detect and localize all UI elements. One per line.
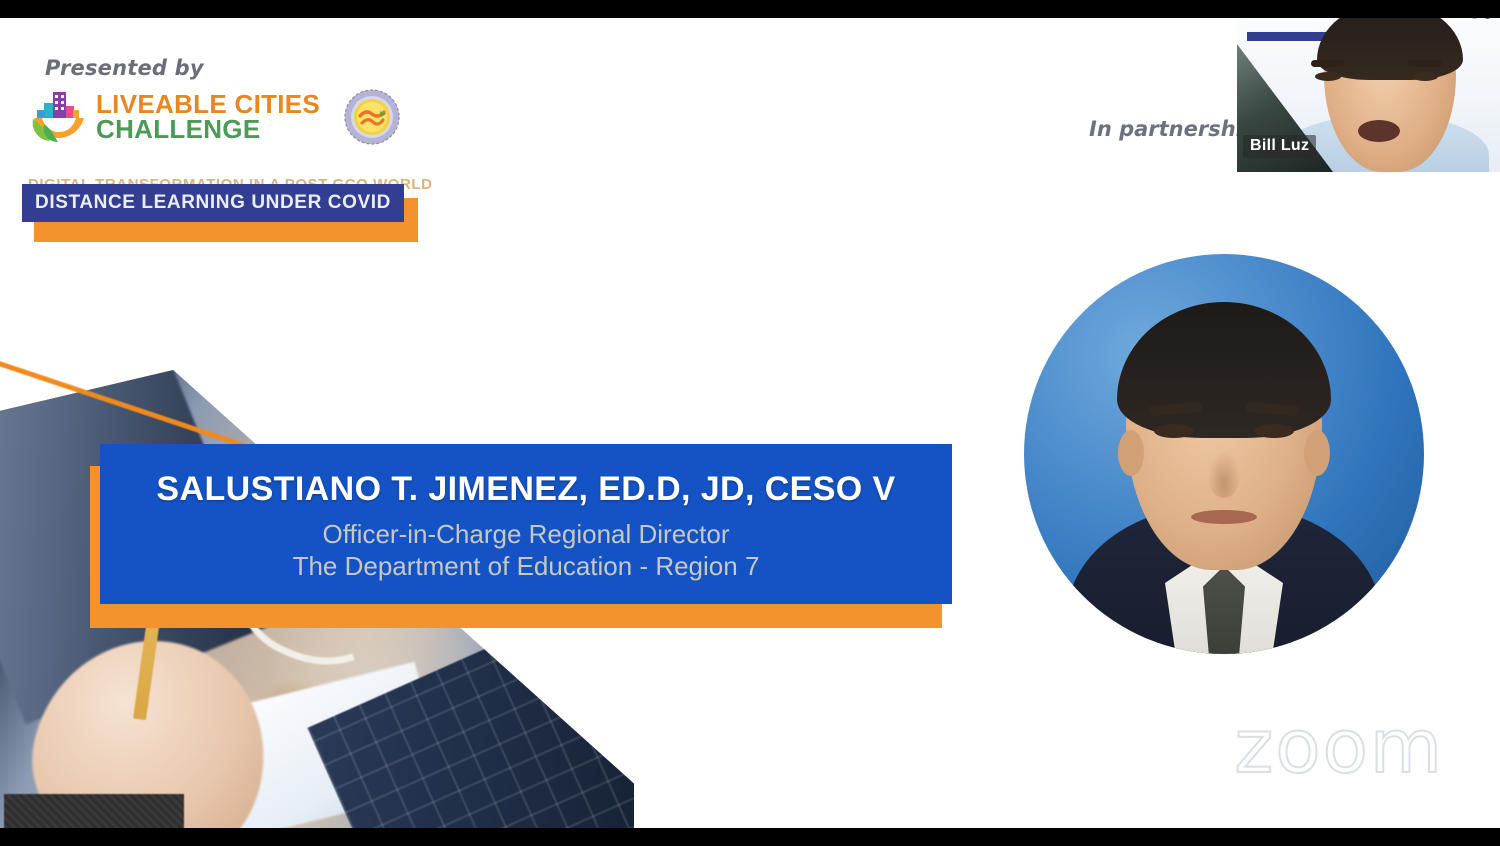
participant-name-label: Bill Luz bbox=[1243, 135, 1316, 158]
thumbnail-eye-left bbox=[1315, 72, 1341, 81]
speaker-role: Officer-in-Charge Regional Director bbox=[322, 519, 729, 550]
portrait-ear-left bbox=[1118, 430, 1144, 476]
participant-video-thumbnail[interactable]: Bill Luz bbox=[1237, 0, 1500, 172]
zoom-meeting-screen: Presented by bbox=[0, 0, 1500, 846]
speaker-nameplate: SALUSTIANO T. JIMENEZ, ED.D, JD, CESO V … bbox=[100, 444, 952, 604]
speaker-name: SALUSTIANO T. JIMENEZ, ED.D, JD, CESO V bbox=[156, 470, 895, 509]
portrait-nose bbox=[1207, 450, 1241, 498]
presented-by-label: Presented by bbox=[45, 56, 204, 80]
zoom-watermark: zoom bbox=[1235, 704, 1444, 790]
deped-region-7-seal-icon bbox=[344, 89, 400, 145]
thumbnail-brow-left bbox=[1311, 60, 1345, 67]
session-banner-main: DISTANCE LEARNING UNDER COVID bbox=[22, 184, 404, 222]
speaker-organization: The Department of Education - Region 7 bbox=[293, 551, 760, 582]
portrait-eye-right bbox=[1254, 424, 1294, 438]
nameplate-main: SALUSTIANO T. JIMENEZ, ED.D, JD, CESO V … bbox=[100, 444, 952, 604]
letterbox-bar-bottom bbox=[0, 828, 1500, 846]
portrait-hair bbox=[1117, 302, 1331, 438]
session-banner-text: DISTANCE LEARNING UNDER COVID bbox=[35, 192, 391, 214]
thumbnail-eye-right bbox=[1412, 72, 1438, 81]
liveable-cities-logo: LIVEABLE CITIES CHALLENGE bbox=[28, 86, 320, 148]
logo-line-2: CHALLENGE bbox=[96, 117, 320, 142]
logo-row: LIVEABLE CITIES CHALLENGE bbox=[28, 86, 400, 148]
liveable-cities-wordmark: LIVEABLE CITIES CHALLENGE bbox=[96, 92, 320, 142]
portrait-eye-left bbox=[1154, 424, 1194, 438]
photo-dark-block bbox=[4, 794, 184, 828]
speaker-headshot bbox=[1024, 254, 1424, 654]
letterbox-bar-top bbox=[0, 0, 1500, 18]
liveable-cities-leaf-city-icon bbox=[28, 86, 90, 148]
session-banner: DISTANCE LEARNING UNDER COVID bbox=[22, 184, 404, 222]
thumbnail-brow-right bbox=[1408, 60, 1442, 67]
portrait-ear-right bbox=[1304, 430, 1330, 476]
thumbnail-mouth bbox=[1358, 120, 1400, 142]
portrait-mouth bbox=[1191, 510, 1257, 524]
